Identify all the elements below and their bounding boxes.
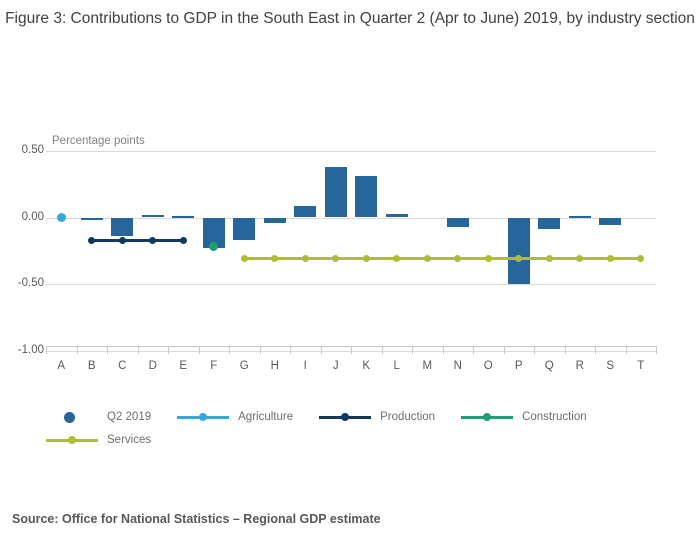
x-axis-tick-mark	[351, 346, 352, 354]
x-axis-tick-label: G	[229, 360, 259, 372]
bar	[142, 215, 164, 218]
x-axis-tick-label: P	[504, 360, 534, 372]
x-axis-tick-label: B	[77, 360, 107, 372]
y-axis-tick-label: 0.50	[2, 144, 44, 156]
x-axis-tick-label: A	[46, 360, 76, 372]
bar	[355, 176, 377, 217]
x-axis-tick-mark	[168, 346, 169, 354]
gridline	[46, 218, 656, 219]
legend-swatch-icon	[177, 411, 229, 423]
legend-item[interactable]: Construction	[461, 411, 587, 423]
x-axis-tick-label: C	[107, 360, 137, 372]
series-marker-services	[302, 255, 309, 262]
x-axis-tick-mark	[626, 346, 627, 354]
bar	[599, 218, 621, 226]
series-marker-construction	[209, 242, 218, 251]
legend-label: Agriculture	[238, 411, 293, 423]
legend-item[interactable]: Q2 2019	[46, 411, 151, 423]
series-marker-services	[576, 255, 583, 262]
x-axis-tick-label: R	[565, 360, 595, 372]
x-axis-tick-label: Q	[534, 360, 564, 372]
bar	[111, 218, 133, 237]
bar	[81, 218, 103, 220]
bar	[569, 216, 591, 218]
series-marker-services	[363, 255, 370, 262]
x-axis-tick-label: M	[412, 360, 442, 372]
y-axis-tick-label: -0.50	[2, 277, 44, 289]
source-note: Source: Office for National Statistics –…	[12, 512, 381, 526]
series-marker-services	[607, 255, 614, 262]
bar	[233, 218, 255, 241]
x-axis-tick-mark	[473, 346, 474, 354]
x-axis-tick-label: I	[290, 360, 320, 372]
gridline	[46, 284, 656, 285]
series-marker-services	[424, 255, 431, 262]
x-axis-tick-mark	[565, 346, 566, 354]
x-axis-tick-label: D	[138, 360, 168, 372]
legend-label: Production	[380, 411, 435, 423]
legend-item[interactable]: Production	[319, 411, 435, 423]
x-axis-tick-mark	[46, 346, 47, 354]
legend-label: Services	[107, 434, 151, 446]
bar	[447, 218, 469, 227]
chart-plot-area: 0.500.00-0.50-1.00 Percentage points ABC…	[0, 0, 700, 549]
x-axis-tick-mark	[504, 346, 505, 354]
x-axis-tick-mark	[534, 346, 535, 354]
series-marker-production	[119, 237, 126, 244]
bar	[386, 214, 408, 218]
bar	[294, 206, 316, 218]
series-marker-services	[241, 255, 248, 262]
x-axis-tick-label: T	[626, 360, 656, 372]
bar	[172, 216, 194, 218]
x-axis-tick-mark	[290, 346, 291, 354]
legend-item[interactable]: Services	[46, 434, 151, 446]
series-marker-services	[271, 255, 278, 262]
series-marker-services	[332, 255, 339, 262]
x-axis-tick-mark	[107, 346, 108, 354]
legend-swatch-icon	[319, 411, 371, 423]
series-marker-production	[149, 237, 156, 244]
legend-row-2: Services	[46, 428, 666, 451]
series-marker-agriculture	[57, 213, 66, 222]
chart-legend: Q2 2019AgricultureProductionConstruction…	[46, 405, 666, 451]
series-marker-services	[637, 255, 644, 262]
x-axis-tick-mark	[382, 346, 383, 354]
x-axis-tick-mark	[260, 346, 261, 354]
series-marker-services	[454, 255, 461, 262]
legend-item[interactable]: Agriculture	[177, 411, 293, 423]
x-axis-tick-label: E	[168, 360, 198, 372]
legend-swatch-icon	[46, 434, 98, 446]
series-marker-production	[180, 237, 187, 244]
series-marker-services	[546, 255, 553, 262]
y-axis-tick-label: 0.00	[2, 211, 44, 223]
series-marker-production	[88, 237, 95, 244]
legend-row-1: Q2 2019AgricultureProductionConstruction	[46, 405, 666, 428]
x-axis-tick-mark	[199, 346, 200, 354]
legend-swatch-icon	[461, 411, 513, 423]
y-axis-tick-label: -1.00	[2, 344, 44, 356]
bar	[325, 167, 347, 218]
x-axis-tick-mark	[229, 346, 230, 354]
bar	[538, 218, 560, 230]
x-axis-tick-mark	[77, 346, 78, 354]
x-axis-tick-label: F	[199, 360, 229, 372]
x-axis-tick-label: J	[321, 360, 351, 372]
legend-swatch-icon	[46, 411, 98, 423]
legend-label: Q2 2019	[107, 411, 151, 423]
x-axis-tick-label: S	[595, 360, 625, 372]
x-axis-tick-label: H	[260, 360, 290, 372]
series-marker-services	[393, 255, 400, 262]
x-axis-tick-label: L	[382, 360, 412, 372]
series-line-production	[92, 239, 184, 242]
x-axis-tick-mark	[412, 346, 413, 354]
x-axis-tick-mark	[321, 346, 322, 354]
series-marker-services	[485, 255, 492, 262]
x-axis-tick-mark	[138, 346, 139, 354]
gridline	[46, 151, 656, 152]
x-axis-tick-label: N	[443, 360, 473, 372]
bar	[508, 218, 530, 285]
legend-label: Construction	[522, 411, 587, 423]
x-axis-tick-mark	[595, 346, 596, 354]
x-axis-tick-mark	[443, 346, 444, 354]
x-axis-tick-label: K	[351, 360, 381, 372]
x-axis-tick-label: O	[473, 360, 503, 372]
y-axis-units-label: Percentage points	[52, 135, 145, 147]
x-axis-tick-mark	[656, 346, 657, 354]
bar	[264, 218, 286, 223]
